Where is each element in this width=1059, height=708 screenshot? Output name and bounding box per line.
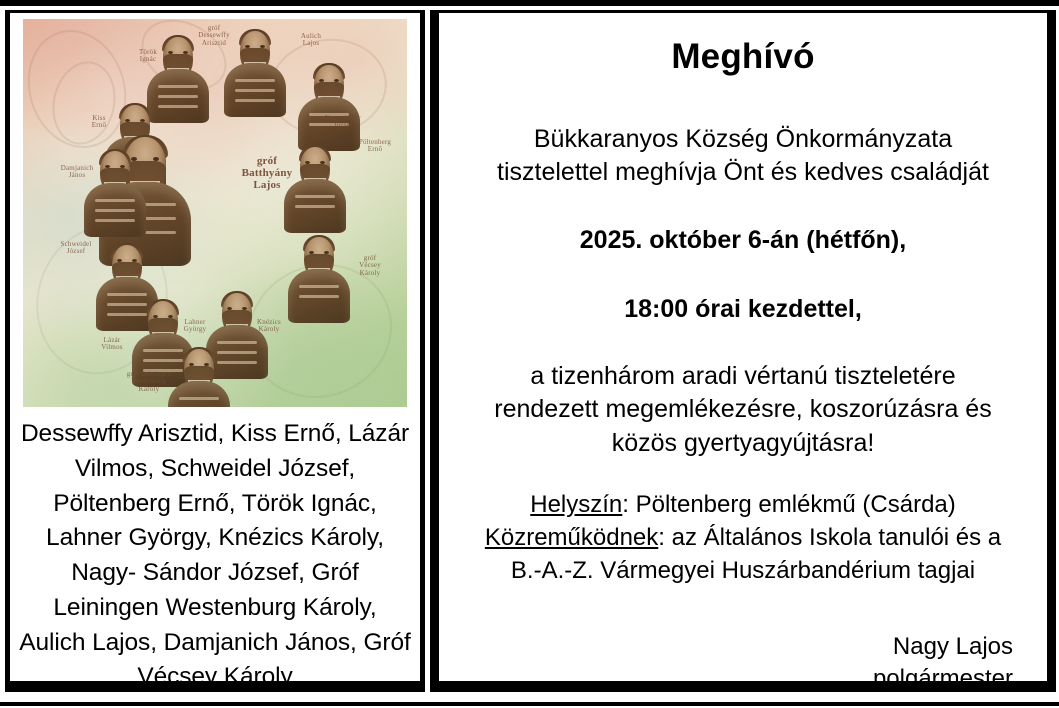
braid-1 bbox=[107, 293, 147, 296]
braid-1 bbox=[158, 85, 198, 88]
performers-line-2: B.-A.-Z. Vármegyei Huszárbandérium tagja… bbox=[455, 554, 1031, 587]
braid-3 bbox=[95, 219, 135, 222]
braid-1 bbox=[235, 79, 275, 82]
braid-1 bbox=[95, 199, 135, 202]
figure-label-knezics-karoly: Knézics Károly bbox=[247, 319, 291, 334]
venue-label: Helyszín bbox=[530, 491, 622, 518]
figure-label-nagysandor-jozsef: Nagysándor József bbox=[317, 115, 369, 130]
event-details: Helyszín: Pöltenberg emlékmű (Csárda) Kö… bbox=[455, 488, 1031, 587]
braid-1 bbox=[295, 195, 335, 198]
braid-1 bbox=[299, 285, 339, 288]
braid-2 bbox=[217, 351, 257, 354]
figure-label-torok-ignac: Török Ignác bbox=[127, 49, 169, 64]
invitation-poster: Török Ignác gróf Dessewffy Arisztid Auli… bbox=[0, 0, 1059, 708]
figure-label-damjanich-janos: Damjanich János bbox=[53, 165, 101, 180]
invitation-intro: Bükkaranyos Község Önkormányzata tisztel… bbox=[455, 123, 1031, 190]
figure-label-dessewffy-arisztid: gróf Dessewffy Arisztid bbox=[191, 25, 237, 47]
braid-2 bbox=[95, 209, 135, 212]
figure-label-vecsey-karoly: gróf Vécsey Károly bbox=[347, 255, 393, 277]
braid-3 bbox=[217, 361, 257, 364]
performers-value: : az Általános Iskola tanulói és a bbox=[658, 524, 1001, 551]
purpose-line-2: rendezett megemlékezésre, koszorúzásra é… bbox=[455, 393, 1031, 426]
signature-name: Nagy Lajos bbox=[455, 631, 1013, 663]
figure-label-batthyany-lajos: gróf Batthyány Lajos bbox=[229, 155, 305, 191]
signature-block: Nagy Lajos polgármester bbox=[455, 631, 1031, 695]
figure-label-aulich-lajos: Aulich Lajos bbox=[291, 33, 331, 48]
purpose-line-3: közös gyertyagyújtásra! bbox=[455, 427, 1031, 460]
signature-role: polgármester bbox=[455, 663, 1013, 695]
figure-label-lahner-gyorgy: Lahner György bbox=[173, 319, 217, 334]
performers-row: Közreműködnek: az Általános Iskola tanul… bbox=[455, 521, 1031, 554]
braid-1 bbox=[143, 349, 183, 352]
figure-label-lazar-vilmos: Lázár Vilmos bbox=[91, 337, 133, 352]
braid-3 bbox=[107, 313, 147, 316]
intro-line-1: Bükkaranyos Község Önkormányzata bbox=[455, 123, 1031, 156]
braid-2 bbox=[295, 205, 335, 208]
braid-1 bbox=[179, 397, 219, 400]
event-date: 2025. október 6-án (hétfőn), bbox=[455, 224, 1031, 257]
figure-label-poltenberg-erno: Pöltenberg Ernő bbox=[353, 139, 397, 154]
braid-2 bbox=[158, 95, 198, 98]
intro-line-2: tisztelettel meghívja Önt és kedves csal… bbox=[455, 156, 1031, 189]
figure-label-kiss-erno: Kiss Ernő bbox=[79, 115, 119, 130]
frame-top-rule bbox=[0, 0, 1059, 6]
event-purpose: a tizenhárom aradi vértanú tiszteletére … bbox=[455, 360, 1031, 460]
braid-2 bbox=[299, 295, 339, 298]
figure-label-schweidel-jozsef: Schweidel József bbox=[53, 241, 99, 256]
event-time: 18:00 órai kezdettel, bbox=[455, 293, 1031, 326]
purpose-line-1: a tizenhárom aradi vértanú tiszteletére bbox=[455, 360, 1031, 393]
right-panel: Meghívó Bükkaranyos Község Önkormányzata… bbox=[430, 10, 1056, 692]
braid-2 bbox=[235, 89, 275, 92]
braid-2 bbox=[143, 359, 183, 362]
martyrs-name-caption: Dessewffy Arisztid, Kiss Ernő, Lázár Vil… bbox=[18, 417, 412, 695]
braid-3 bbox=[235, 99, 275, 102]
braid-2 bbox=[107, 303, 147, 306]
venue-value: : Pöltenberg emlékmű (Csárda) bbox=[622, 491, 955, 518]
braid-1 bbox=[217, 341, 257, 344]
performers-label: Közreműködnek bbox=[485, 524, 658, 551]
frame-bottom-rule bbox=[0, 702, 1059, 706]
braid-3 bbox=[158, 105, 198, 108]
martyrs-lithograph-image: Török Ignác gróf Dessewffy Arisztid Auli… bbox=[23, 19, 407, 407]
left-panel: Török Ignác gróf Dessewffy Arisztid Auli… bbox=[5, 10, 425, 692]
venue-row: Helyszín: Pöltenberg emlékmű (Csárda) bbox=[455, 488, 1031, 521]
figure-label-leiningen-westenburg-karoly: gróf Leiningen Westenburg Károly bbox=[119, 371, 179, 393]
invitation-title: Meghívó bbox=[455, 37, 1031, 77]
